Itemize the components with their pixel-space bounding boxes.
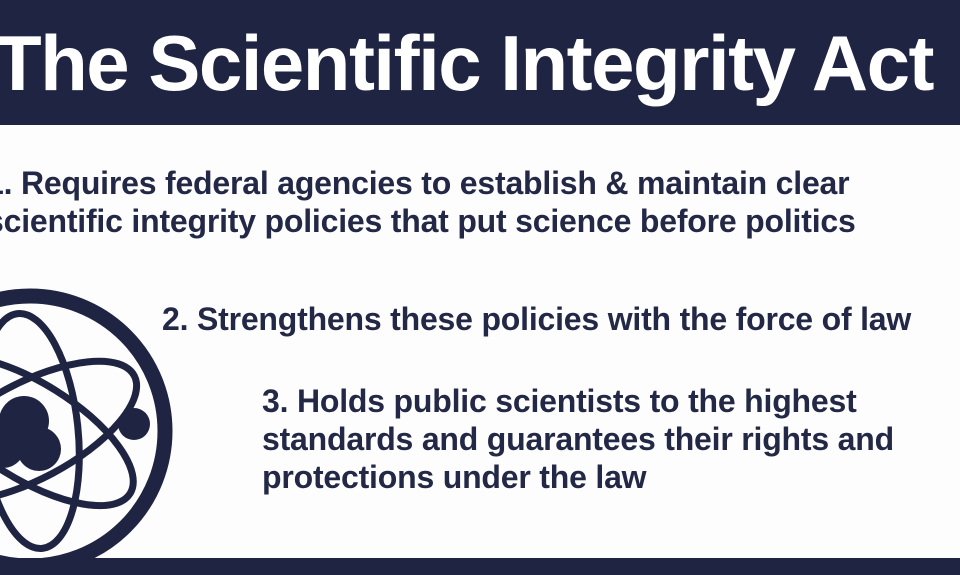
footer-band — [0, 558, 960, 575]
atom-icon — [0, 283, 178, 558]
provision-item-3: 3. Holds public scientists to the highes… — [262, 383, 960, 496]
page-title: The Scientific Integrity Act — [0, 24, 933, 102]
body-area: 1. Requires federal agencies to establis… — [0, 125, 960, 558]
provision-item-2: 2. Strengthens these policies with the f… — [162, 301, 960, 339]
header-band: The Scientific Integrity Act — [0, 0, 960, 125]
provision-item-1: 1. Requires federal agencies to establis… — [0, 165, 946, 241]
slide-canvas: The Scientific Integrity Act — [0, 0, 960, 575]
